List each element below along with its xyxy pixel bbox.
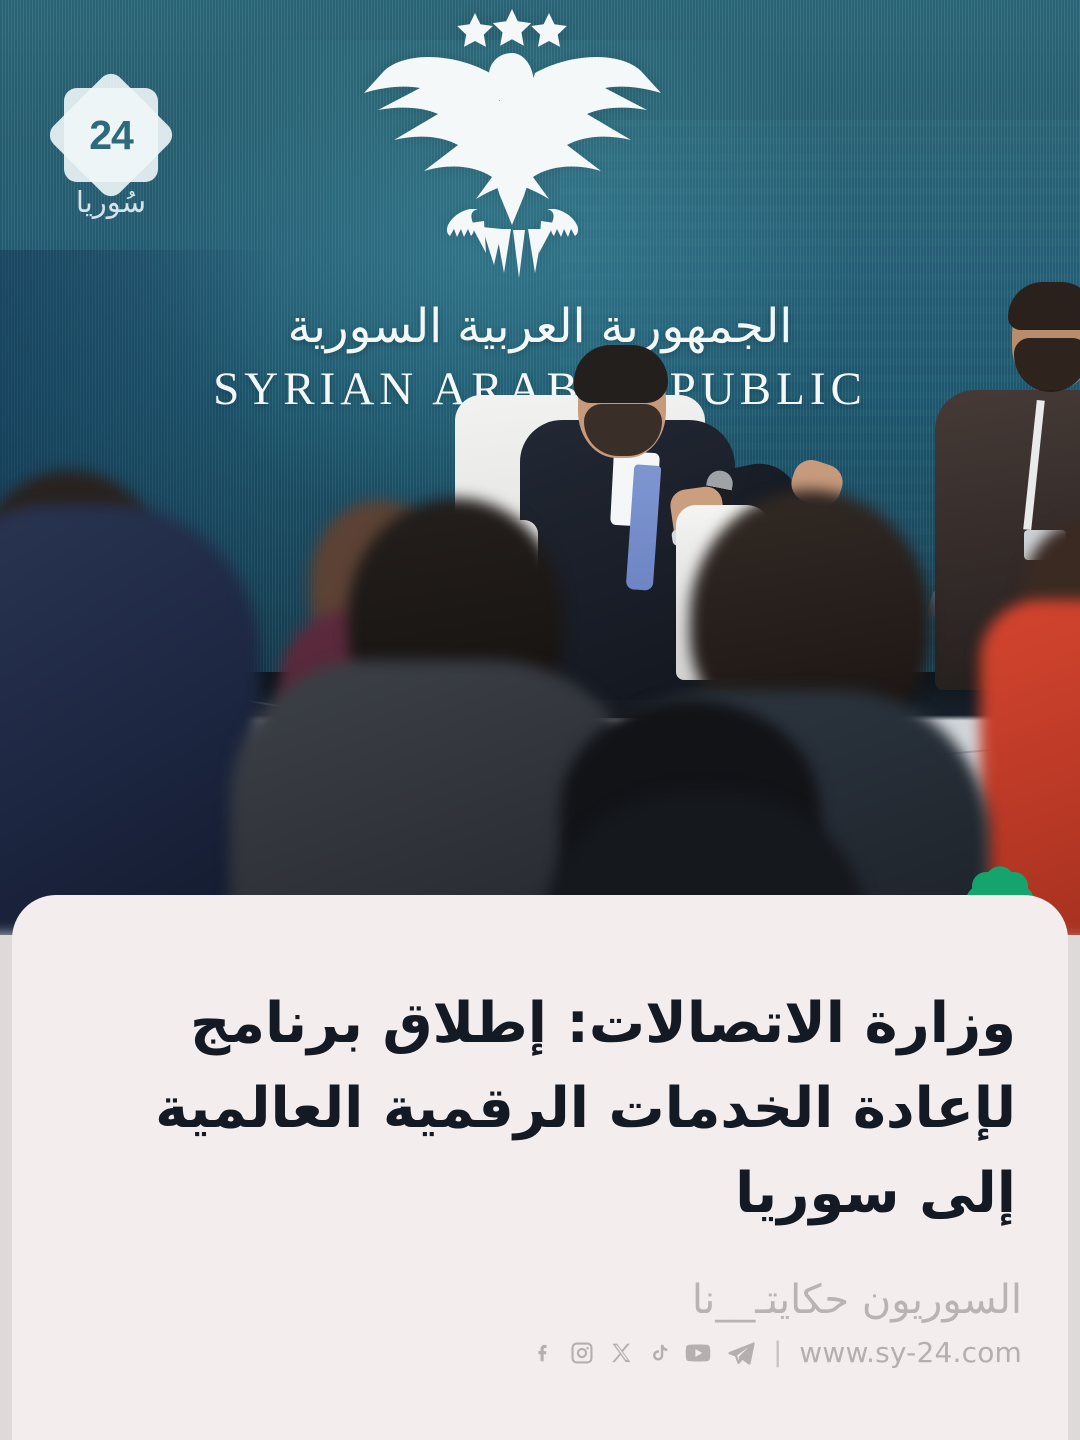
tiktok-icon[interactable] bbox=[648, 1338, 670, 1368]
octagram-star-shape: 24 bbox=[64, 88, 158, 182]
audience-body-navy bbox=[0, 505, 260, 935]
card-footer: السوريون حكايتـ__نا bbox=[533, 1280, 1022, 1369]
social-links-row: | www.sy-24.com bbox=[533, 1336, 1022, 1369]
youtube-icon[interactable] bbox=[683, 1338, 713, 1368]
hero-photo: الجمهورية العربية السورية SYRIAN ARAB RE… bbox=[0, 0, 1080, 935]
telegram-icon[interactable] bbox=[726, 1338, 756, 1368]
news-card-canvas: الجمهورية العربية السورية SYRIAN ARAB RE… bbox=[0, 0, 1080, 1440]
website-url[interactable]: www.sy-24.com bbox=[799, 1336, 1022, 1369]
brand-tagline: السوريون حكايتـ__نا bbox=[533, 1280, 1022, 1320]
syrian-eagle-emblem bbox=[330, 5, 695, 315]
headline-card: وزارة الاتصالات: إطلاق برنامج لإعادة الخ… bbox=[12, 895, 1068, 1440]
speaker-hair bbox=[574, 345, 668, 403]
sy24-logo: 24 سُوريا bbox=[55, 88, 167, 218]
instagram-icon[interactable] bbox=[568, 1338, 596, 1368]
footer-separator: | bbox=[769, 1339, 786, 1366]
logo-number: 24 bbox=[64, 88, 158, 182]
backdrop-arabic-text: الجمهورية العربية السورية bbox=[0, 300, 1080, 354]
facebook-icon[interactable] bbox=[533, 1338, 555, 1368]
x-icon[interactable] bbox=[609, 1338, 635, 1368]
page-title: وزارة الاتصالات: إطلاق برنامج لإعادة الخ… bbox=[64, 981, 1016, 1236]
